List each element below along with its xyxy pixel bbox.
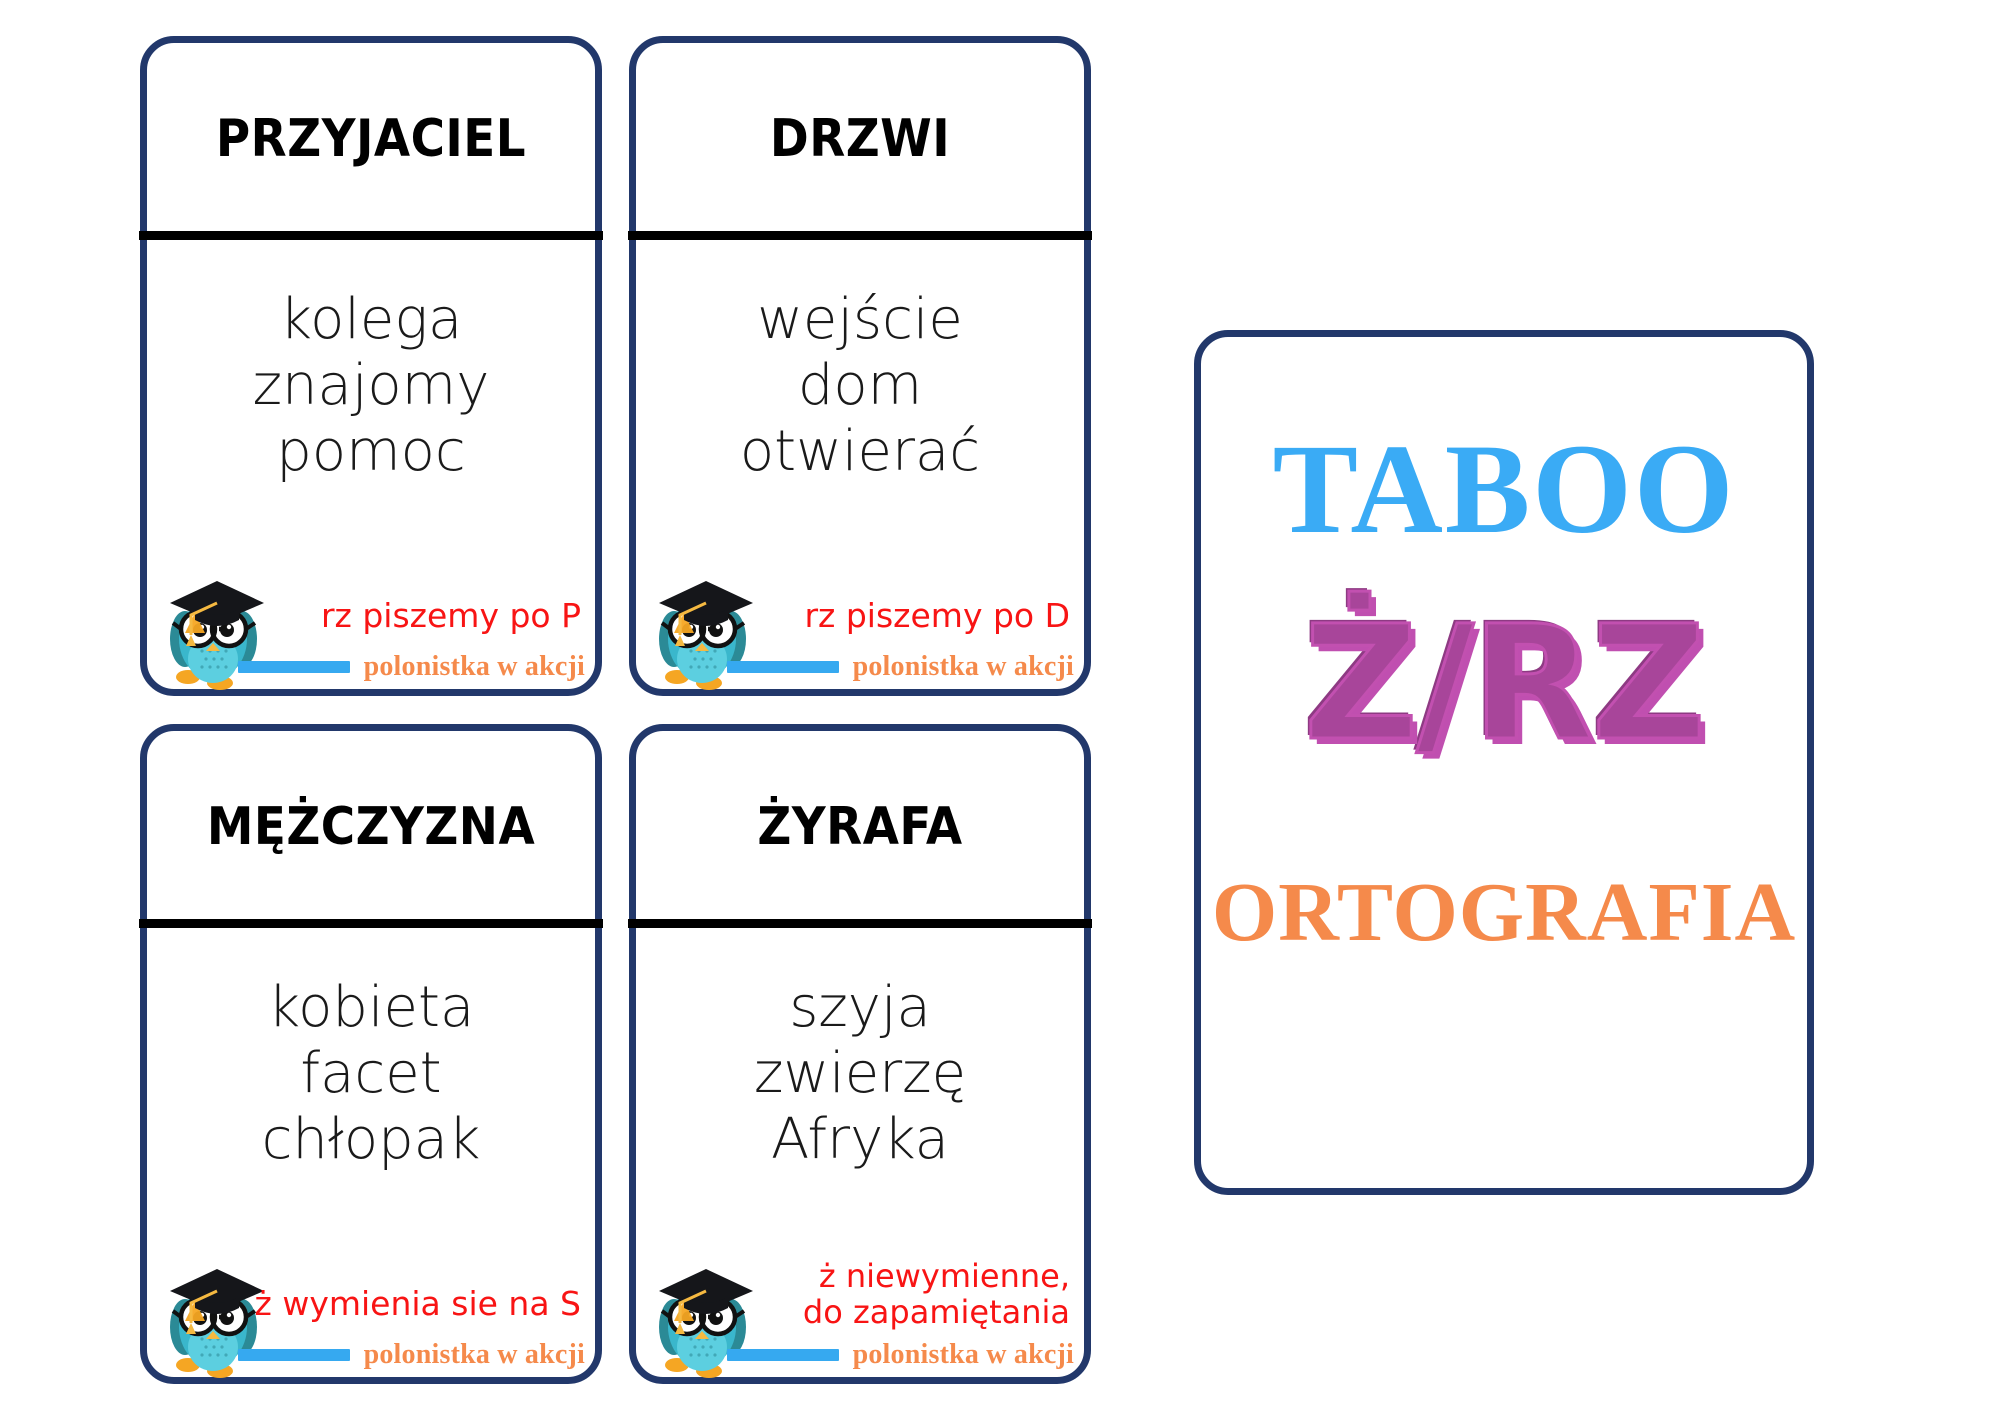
brand-logo: polonistka w akcji: [238, 651, 585, 683]
taboo-card-zyrafa[interactable]: ŻYRAFA szyja zwierzę Afryka: [629, 724, 1091, 1384]
brand-bar-icon: [238, 661, 350, 673]
taboo-word: zwierzę: [754, 1041, 966, 1107]
taboo-word: otwierać: [740, 419, 980, 485]
brand-bar-icon: [727, 1349, 839, 1361]
card-footer: ż niewymienne, do zapamiętania polonistk…: [636, 1241, 1084, 1377]
cover-game-name: TABOO: [1273, 425, 1736, 553]
cover-subject: ORTOGRAFIA: [1212, 871, 1796, 955]
taboo-word: znajomy: [253, 353, 490, 419]
brand-logo: polonistka w akcji: [727, 1339, 1074, 1371]
card-word-list: wejście dom otwierać: [636, 235, 1084, 553]
taboo-word: chłopak: [262, 1107, 481, 1173]
brand-name: polonistka w akcji: [364, 651, 585, 683]
taboo-word: wejście: [757, 287, 963, 353]
card-footer: rz piszemy po P polonistka w akcji: [147, 553, 595, 689]
card-title: ŻYRAFA: [757, 797, 962, 857]
taboo-card-drzwi[interactable]: DRZWI wejście dom otwierać: [629, 36, 1091, 696]
card-header: DRZWI: [636, 43, 1084, 235]
brand-name: polonistka w akcji: [853, 1339, 1074, 1371]
card-header: PRZYJACIEL: [147, 43, 595, 235]
taboo-word: dom: [798, 353, 922, 419]
spelling-hint: rz piszemy po D: [804, 598, 1070, 635]
header-divider: [628, 231, 1092, 240]
brand-bar-icon: [727, 661, 839, 673]
card-footer: ż wymienia sie na S polonistka w akcji: [147, 1241, 595, 1377]
taboo-word: kolega: [280, 287, 463, 353]
taboo-word: pomoc: [276, 419, 465, 485]
brand-logo: polonistka w akcji: [238, 1339, 585, 1371]
header-divider: [139, 231, 603, 240]
card-title: PRZYJACIEL: [216, 109, 526, 169]
taboo-word: Afryka: [771, 1107, 949, 1173]
taboo-word: facet: [300, 1041, 441, 1107]
card-header: MĘŻCZYZNA: [147, 731, 595, 923]
header-divider: [628, 919, 1092, 928]
spelling-hint: ż niewymienne, do zapamiętania: [803, 1259, 1070, 1331]
card-footer: rz piszemy po D polonistka w akcji: [636, 553, 1084, 689]
taboo-word: kobieta: [268, 975, 475, 1041]
card-title: DRZWI: [770, 109, 950, 169]
taboo-cover-card[interactable]: TABOO Ż/RZ ORTOGRAFIA: [1194, 330, 1814, 1195]
header-divider: [139, 919, 603, 928]
card-word-list: kolega znajomy pomoc: [147, 235, 595, 553]
card-header: ŻYRAFA: [636, 731, 1084, 923]
card-word-list: kobieta facet chłopak: [147, 923, 595, 1241]
taboo-card-mezczyzna[interactable]: MĘŻCZYZNA kobieta facet chłopak: [140, 724, 602, 1384]
spelling-hint: rz piszemy po P: [321, 598, 581, 635]
taboo-card-przyjaciel[interactable]: PRZYJACIEL kolega znajomy pomoc: [140, 36, 602, 696]
spelling-hint: ż wymienia sie na S: [255, 1286, 581, 1323]
brand-logo: polonistka w akcji: [727, 651, 1074, 683]
card-title: MĘŻCZYZNA: [207, 797, 535, 857]
brand-bar-icon: [238, 1349, 350, 1361]
cover-topic: Ż/RZ: [1304, 605, 1705, 763]
card-word-list: szyja zwierzę Afryka: [636, 923, 1084, 1241]
brand-name: polonistka w akcji: [364, 1339, 585, 1371]
taboo-word: szyja: [789, 975, 931, 1041]
brand-name: polonistka w akcji: [853, 651, 1074, 683]
